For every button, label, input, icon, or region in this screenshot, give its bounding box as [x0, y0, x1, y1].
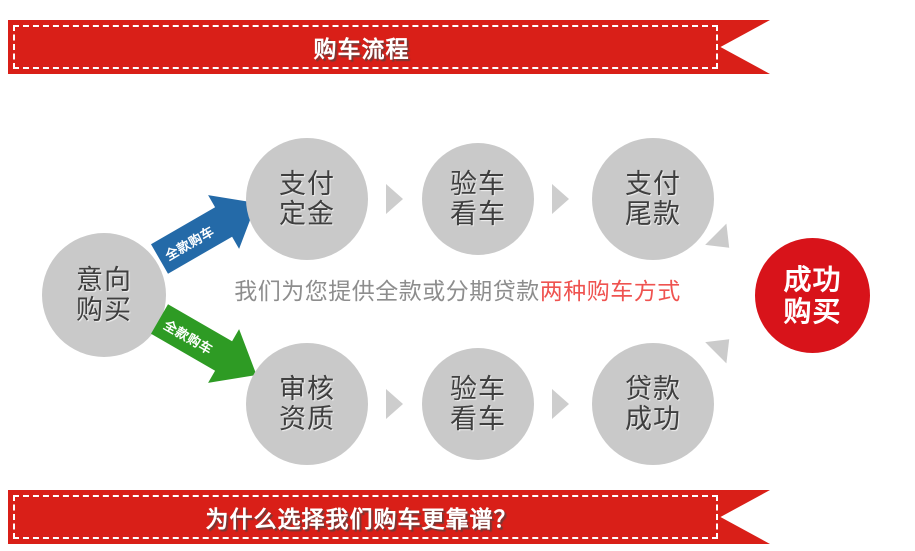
flow-node-label-line2: 定金: [279, 199, 335, 229]
flow-node-installment-step-1[interactable]: 审核 资质: [246, 343, 368, 465]
flow-node-label-line1: 审核: [279, 374, 335, 404]
center-note: 我们为您提供全款或分期贷款两种购车方式: [0, 272, 915, 306]
flow-connector-triangle: [552, 184, 569, 214]
flow-node-label-line1: 支付: [279, 169, 335, 199]
flow-node-label-line1: 贷款: [625, 374, 681, 404]
bottom-banner: 为什么选择我们购车更靠谱？: [8, 490, 770, 544]
flow-connector-triangle: [552, 389, 569, 419]
bottom-banner-title: 为什么选择我们购车更靠谱？: [206, 500, 518, 534]
flow-connector-triangle-to-success-bottom: [705, 329, 740, 364]
top-banner: 购车流程: [8, 20, 770, 74]
flow-node-installment-step-2[interactable]: 验车 看车: [422, 348, 534, 460]
flow-node-label-line2: 看车: [450, 404, 506, 434]
purchase-flow-infographic: 购车流程 意向 购买 全款购车 全款购车 支付 定金: [0, 0, 915, 551]
flow-node-label-line2: 成功: [625, 404, 681, 434]
flow-node-label-line1: 验车: [450, 169, 506, 199]
flow-node-label-line1: 支付: [625, 169, 681, 199]
flow-node-label-line2: 资质: [279, 404, 335, 434]
flow-connector-triangle-to-success-top: [705, 224, 740, 259]
center-note-plain: 我们为您提供全款或分期贷款: [234, 278, 540, 304]
flow-connector-triangle: [386, 389, 403, 419]
flow-node-label-line1: 验车: [450, 374, 506, 404]
flow-connector-triangle: [386, 184, 403, 214]
flow-node-label-line2: 看车: [450, 199, 506, 229]
center-note-highlight: 两种购车方式: [540, 278, 681, 304]
flow-node-full-payment-step-2[interactable]: 验车 看车: [422, 143, 534, 255]
flow-diagram: 意向 购买 全款购车 全款购车 支付 定金 验车 看车: [0, 88, 915, 483]
flow-node-label-line2: 尾款: [625, 199, 681, 229]
flow-node-installment-step-3[interactable]: 贷款 成功: [592, 343, 714, 465]
top-banner-title: 购车流程: [314, 30, 410, 64]
flow-node-full-payment-step-1[interactable]: 支付 定金: [246, 138, 368, 260]
flow-node-full-payment-step-3[interactable]: 支付 尾款: [592, 138, 714, 260]
